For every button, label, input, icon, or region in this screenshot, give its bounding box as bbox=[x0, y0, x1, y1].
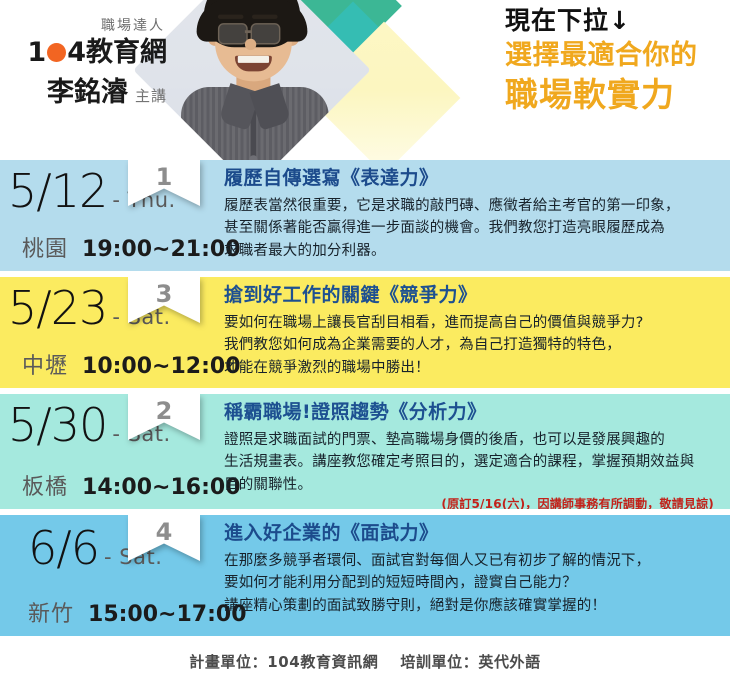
portrait-glasses-bridge bbox=[245, 30, 252, 32]
badge-number: 4 bbox=[128, 515, 200, 561]
course-description: 在那麼多競爭者環伺、面試官對每個人又已有初步了解的情況下， 要如何才能利用分配到… bbox=[224, 550, 716, 617]
course-row[interactable]: 5/23- Sat. 中壢10:00~12:00 3 搶到好工作的關鍵《競爭力》… bbox=[0, 277, 730, 388]
speaker-role: 主講 bbox=[135, 87, 167, 105]
course-description-line: 目的關聯性。 bbox=[224, 474, 716, 496]
course-description-line: 履歷表當然很重要，它是求職的敲門磚、應徵者給主考官的第一印象， bbox=[224, 195, 716, 217]
course-place-line: 板橋14:00~16:00 bbox=[22, 469, 241, 501]
course-title: 履歷自傳選寫《表達力》 bbox=[224, 166, 716, 192]
logo-dot-icon bbox=[47, 43, 66, 62]
course-row[interactable]: 5/30- Sat. 板橋14:00~16:00 2 稱霸職場!證照趨勢《分析力… bbox=[0, 394, 730, 509]
course-date: 5/23 bbox=[8, 281, 107, 335]
portrait-teeth bbox=[238, 56, 269, 63]
course-description-line: 才能在競爭激烈的職場中勝出！ bbox=[224, 357, 716, 379]
poster-header: 職場達人 14教育網 李銘濬主講 現在下拉↓ 選擇最適合你的 職場軟實力 bbox=[0, 0, 730, 160]
badge-number: 3 bbox=[128, 277, 200, 323]
course-content: 履歷自傳選寫《表達力》 履歷表當然很重要，它是求職的敲門磚、應徵者給主考官的第一… bbox=[218, 160, 730, 271]
poster-footer: 計畫單位：104教育資訊網 培訓單位：英代外語 bbox=[0, 642, 730, 680]
footer-trainer: 培訓單位：英代外語 bbox=[400, 651, 540, 672]
course-description-line: 生活規畫表。講座教您確定考照目的，選定適合的課程，掌握預期效益與 bbox=[224, 451, 716, 473]
course-schedule: 5/30- Sat. 板橋14:00~16:00 2 bbox=[0, 394, 218, 509]
course-title: 稱霸職場!證照趨勢《分析力》 bbox=[224, 400, 716, 426]
course-number-badge: 4 bbox=[128, 515, 200, 561]
course-time: 14:00~16:00 bbox=[82, 475, 241, 500]
speaker-row: 李銘濬主講 bbox=[0, 70, 175, 109]
course-content: 稱霸職場!證照趨勢《分析力》 證照是求職面試的門票、墊高職場身價的後盾，也可以是… bbox=[218, 394, 730, 509]
speaker-name: 李銘濬 bbox=[47, 77, 128, 108]
course-description: 要如何在職場上讓長官刮目相看，進而提高自己的價值與競爭力? 我們教您如何成為企業… bbox=[224, 312, 716, 379]
course-description-line: 要如何才能利用分配到的短短時間內，證實自己能力？ bbox=[224, 572, 716, 594]
course-reschedule-note: (原訂5/16(六)，因講師事務有所調動，敬請見諒) bbox=[224, 495, 716, 509]
course-number-badge: 1 bbox=[128, 160, 200, 206]
course-description-line: 證照是求職面試的門票、墊高職場身價的後盾，也可以是發展興趣的 bbox=[224, 429, 716, 451]
brand-eyebrow: 職場達人 bbox=[0, 0, 175, 35]
logo-digit-one: 1 bbox=[27, 37, 46, 68]
poster-page: 職場達人 14教育網 李銘濬主講 現在下拉↓ 選擇最適合你的 職場軟實力 5/1… bbox=[0, 0, 730, 680]
course-place-line: 中壢10:00~12:00 bbox=[22, 348, 241, 380]
portrait-brow-right bbox=[252, 15, 278, 19]
course-number-badge: 2 bbox=[128, 394, 200, 440]
portrait-glasses-left bbox=[218, 23, 248, 44]
portrait-nose bbox=[245, 39, 256, 50]
headline-block: 現在下拉↓ 選擇最適合你的 職場軟實力 bbox=[505, 4, 730, 116]
course-content: 搶到好工作的關鍵《競爭力》 要如何在職場上讓長官刮目相看，進而提高自己的價值與競… bbox=[218, 277, 730, 388]
course-description: 證照是求職面試的門票、墊高職場身價的後盾，也可以是發展興趣的 生活規畫表。講座教… bbox=[224, 429, 716, 496]
course-city: 中壢 bbox=[22, 354, 68, 379]
course-title: 搶到好工作的關鍵《競爭力》 bbox=[224, 283, 716, 309]
course-description-line: 要如何在職場上讓長官刮目相看，進而提高自己的價值與競爭力? bbox=[224, 312, 716, 334]
course-description: 履歷表當然很重要，它是求職的敲門磚、應徵者給主考官的第一印象， 甚至關係著能否贏… bbox=[224, 195, 716, 262]
course-description-line: 在那麼多競爭者環伺、面試官對每個人又已有初步了解的情況下， bbox=[224, 550, 716, 572]
portrait-brow-left bbox=[218, 15, 244, 19]
footer-organizer: 計畫單位：104教育資訊網 bbox=[189, 651, 378, 672]
course-description-line: 甚至關係著能否贏得進一步面談的機會。我們教您打造亮眼履歷成為 bbox=[224, 217, 716, 239]
course-row[interactable]: 5/12- Thu. 桃園19:00~21:00 1 履歷自傳選寫《表達力》 履… bbox=[0, 160, 730, 271]
badge-number: 2 bbox=[128, 394, 200, 440]
course-description-line: 求職者最大的加分利器。 bbox=[224, 240, 716, 262]
course-description-line: 講座精心策劃的面試致勝守則，絕對是你應該確實掌握的！ bbox=[224, 595, 716, 617]
course-city: 板橋 bbox=[22, 475, 68, 500]
course-place-line: 新竹15:00~17:00 bbox=[28, 596, 247, 628]
headline-line-2: 職場軟實力 bbox=[505, 74, 730, 116]
course-city: 桃園 bbox=[22, 237, 68, 262]
course-time: 19:00~21:00 bbox=[82, 237, 241, 262]
course-number-badge: 3 bbox=[128, 277, 200, 323]
course-city: 新竹 bbox=[28, 602, 74, 627]
course-schedule: 6/6- Sat. 新竹15:00~17:00 4 bbox=[0, 515, 218, 636]
course-date: 5/12 bbox=[8, 164, 107, 218]
course-place-line: 桃園19:00~21:00 bbox=[22, 231, 241, 263]
badge-number: 1 bbox=[128, 160, 200, 206]
headline-line-1: 選擇最適合你的 bbox=[505, 39, 730, 74]
course-content: 進入好企業的《面試力》 在那麼多競爭者環伺、面試官對每個人又已有初步了解的情況下… bbox=[218, 515, 730, 636]
course-schedule: 5/12- Thu. 桃園19:00~21:00 1 bbox=[0, 160, 218, 271]
course-description-line: 我們教您如何成為企業需要的人才，為自己打造獨特的特色， bbox=[224, 334, 716, 356]
brand-logo: 14教育網 bbox=[0, 38, 175, 68]
course-date: 5/30 bbox=[8, 398, 107, 452]
course-date: 6/6 bbox=[28, 521, 99, 575]
course-row[interactable]: 6/6- Sat. 新竹15:00~17:00 4 進入好企業的《面試力》 在那… bbox=[0, 515, 730, 636]
logo-text-tail: 4教育網 bbox=[67, 37, 167, 68]
brand-block: 職場達人 14教育網 李銘濬主講 bbox=[0, 0, 175, 109]
course-list: 5/12- Thu. 桃園19:00~21:00 1 履歷自傳選寫《表達力》 履… bbox=[0, 160, 730, 636]
course-title: 進入好企業的《面試力》 bbox=[224, 521, 716, 547]
course-time: 10:00~12:00 bbox=[82, 354, 241, 379]
course-schedule: 5/23- Sat. 中壢10:00~12:00 3 bbox=[0, 277, 218, 388]
scroll-cta-text: 現在下拉↓ bbox=[505, 4, 730, 38]
